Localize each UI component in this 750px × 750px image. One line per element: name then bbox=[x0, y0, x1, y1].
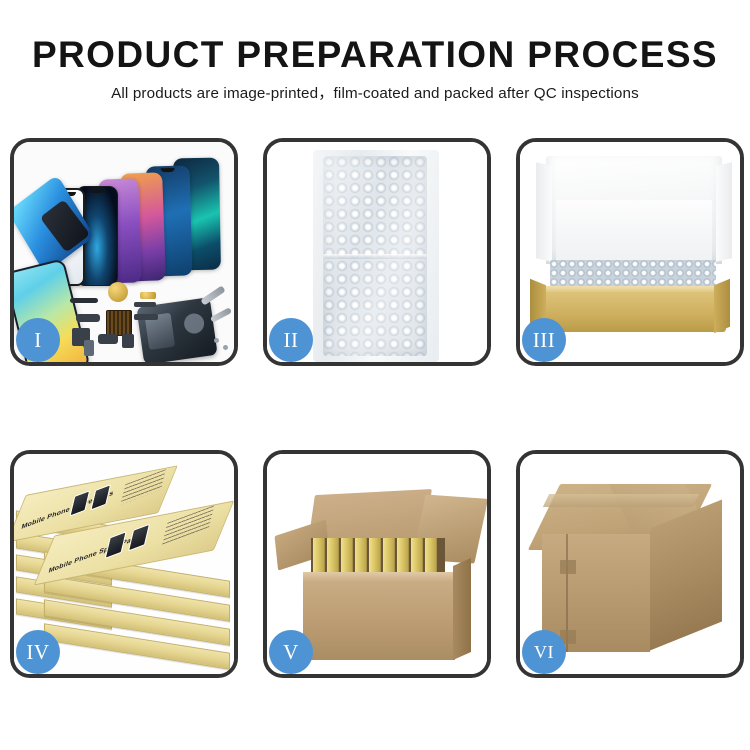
camera-part bbox=[98, 334, 118, 344]
connector-part bbox=[140, 292, 156, 299]
page-subtitle: All products are image-printed，film-coat… bbox=[0, 83, 750, 105]
box-product-image bbox=[128, 524, 150, 552]
notch bbox=[161, 168, 175, 172]
notch bbox=[90, 189, 104, 193]
header: PRODUCT PREPARATION PROCESS All products… bbox=[0, 0, 750, 128]
kraft-box-front bbox=[542, 292, 726, 332]
speaker-part bbox=[108, 282, 128, 302]
bubble-wrap-seam bbox=[323, 254, 427, 259]
page-title: PRODUCT PREPARATION PROCESS bbox=[0, 33, 750, 77]
foam-liner bbox=[556, 200, 712, 264]
process-step-2: II bbox=[263, 138, 491, 366]
carton-front-face bbox=[303, 582, 455, 660]
battery-connector-part bbox=[84, 340, 94, 356]
carton-right-face bbox=[453, 558, 471, 660]
flex-cable-part bbox=[134, 302, 156, 307]
earpiece-mesh-part bbox=[70, 298, 98, 303]
step-numeral-badge: V bbox=[269, 630, 313, 674]
screw-part bbox=[223, 345, 228, 350]
step-numeral-badge: II bbox=[269, 318, 313, 362]
step-numeral-badge: III bbox=[522, 318, 566, 362]
box-spec-text-lines bbox=[120, 469, 165, 505]
kraft-box-right-side bbox=[714, 279, 730, 333]
antenna-flex-part bbox=[134, 314, 158, 320]
button-flex-part bbox=[76, 314, 100, 322]
process-step-1: I bbox=[10, 138, 238, 366]
product-preparation-infographic: PRODUCT PREPARATION PROCESS All products… bbox=[0, 0, 750, 750]
process-step-6: VI bbox=[516, 450, 744, 678]
carton-sealing-tape bbox=[543, 494, 699, 507]
carton-flap-tab bbox=[560, 560, 576, 574]
screw-part bbox=[214, 338, 219, 343]
box-spec-text-lines bbox=[162, 505, 214, 545]
process-step-3: III bbox=[516, 138, 744, 366]
step-numeral-badge: IV bbox=[16, 630, 60, 674]
step-numeral-badge: VI bbox=[522, 630, 566, 674]
process-step-4: Mobile Phone Spare Parts Mobile Pho bbox=[10, 450, 238, 678]
box-product-image bbox=[105, 531, 127, 559]
chip-array-part bbox=[106, 310, 132, 336]
step-numeral-badge: I bbox=[16, 318, 60, 362]
vibrator-part bbox=[122, 334, 134, 348]
process-step-5: V bbox=[263, 450, 491, 678]
process-step-grid: I II bbox=[8, 136, 742, 684]
